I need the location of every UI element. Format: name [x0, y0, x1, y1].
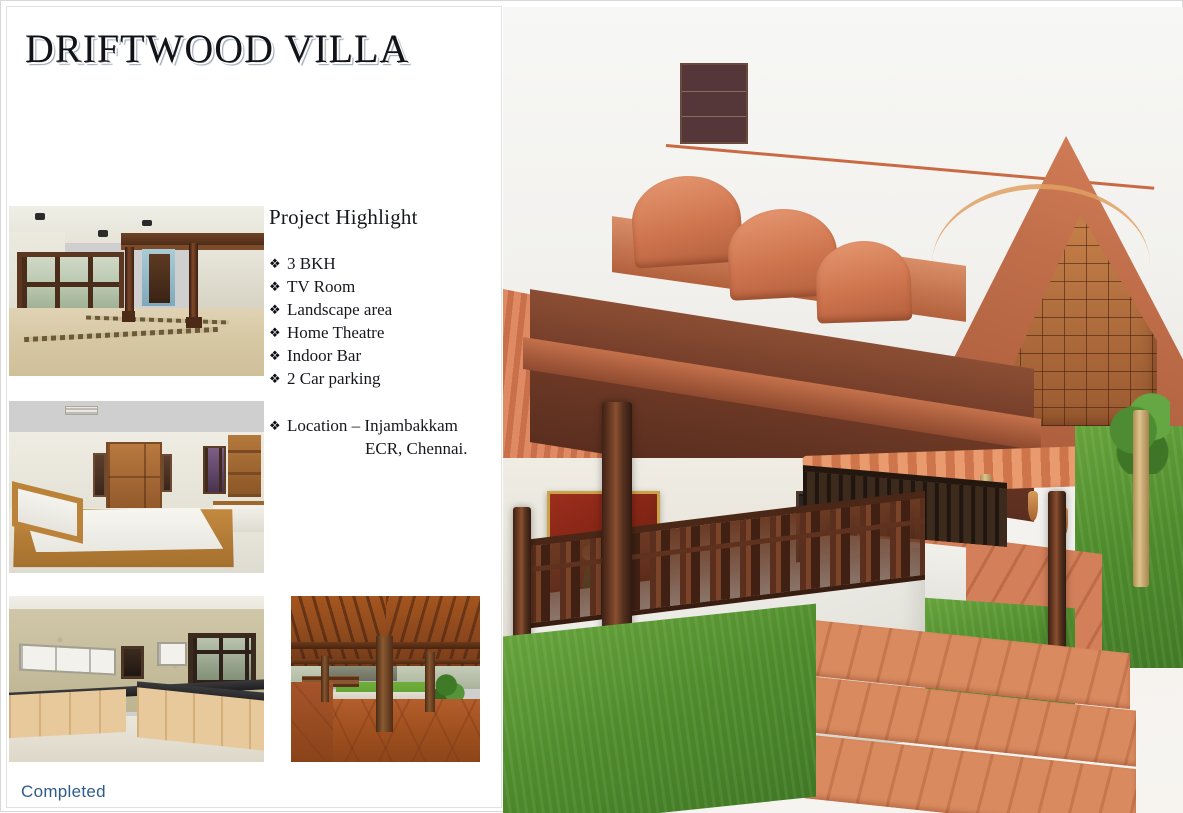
villa-exterior-photo[interactable]	[503, 7, 1183, 813]
wooden-pillar-left	[125, 247, 134, 318]
pillar-base-left	[122, 311, 135, 321]
bullet-diamond-icon: ❖	[269, 275, 287, 298]
highlight-item-label: TV Room	[287, 275, 497, 298]
highlight-item-label: 3 BKH	[287, 252, 497, 275]
lawn-left	[503, 603, 816, 813]
ceiling-light-1	[35, 213, 45, 220]
window-far	[203, 446, 226, 494]
pillar-base-right	[186, 317, 201, 329]
base-cabinets-left	[9, 689, 126, 738]
wooden-pillar-right	[189, 243, 199, 321]
location-item: ❖ Location – Injambakkam	[269, 414, 497, 437]
highlight-item-5: ❖ 2 Car parking	[269, 367, 497, 390]
pillar-center	[376, 636, 393, 732]
window-left	[93, 453, 106, 498]
highlight-item-3: ❖ Home Theatre	[269, 321, 497, 344]
bedroom-photo[interactable]	[9, 401, 264, 573]
living-room-photo[interactable]	[9, 206, 264, 376]
gable-finial-2	[1028, 491, 1038, 521]
highlight-item-label: Indoor Bar	[287, 344, 497, 367]
project-highlight-block: Project Highlight ❖ 3 BKH ❖ TV Room ❖ La…	[269, 205, 497, 460]
highlight-item-label: Landscape area	[287, 298, 497, 321]
bullet-diamond-icon: ❖	[269, 414, 287, 437]
upper-cabinets-left	[19, 643, 116, 675]
wooden-cabinet	[149, 254, 169, 303]
upper-cabinet-right	[157, 642, 188, 665]
highlight-item-1: ❖ TV Room	[269, 275, 497, 298]
wall-shelf-unit	[228, 435, 261, 497]
highlight-item-4: ❖ Indoor Bar	[269, 344, 497, 367]
project-highlight-heading: Project Highlight	[269, 205, 497, 230]
bullet-diamond-icon: ❖	[269, 367, 287, 390]
pillar-right	[425, 652, 434, 712]
window-right	[162, 454, 172, 492]
left-content-pane: DRIFTWOOD VILLA	[6, 6, 502, 808]
plaster-pillar-right	[1133, 410, 1149, 587]
bullet-diamond-icon: ❖	[269, 321, 287, 344]
upper-window	[680, 63, 748, 144]
presentation-slide: DRIFTWOOD VILLA	[0, 0, 1183, 812]
page-title: DRIFTWOOD VILLA	[25, 25, 409, 72]
ac-vent	[65, 406, 98, 415]
bullet-diamond-icon: ❖	[269, 344, 287, 367]
status-badge: Completed	[21, 782, 106, 802]
highlight-item-0: ❖ 3 BKH	[269, 252, 497, 275]
location-line-1: Location – Injambakkam	[287, 414, 497, 437]
highlight-item-label: Home Theatre	[287, 321, 497, 344]
small-window	[121, 646, 144, 679]
highlight-item-label: 2 Car parking	[287, 367, 497, 390]
pillar-left	[321, 656, 329, 702]
courtyard-photo[interactable]	[291, 596, 480, 762]
stone-paver-path	[960, 581, 1183, 813]
bullet-diamond-icon: ❖	[269, 252, 287, 275]
bullet-diamond-icon: ❖	[269, 298, 287, 321]
location-line-2: ECR, Chennai.	[269, 437, 497, 460]
back-room	[198, 250, 264, 310]
highlight-item-2: ❖ Landscape area	[269, 298, 497, 321]
ceiling-light-3	[98, 230, 108, 237]
ceiling-light-2	[142, 220, 152, 227]
kitchen-photo[interactable]	[9, 596, 264, 762]
